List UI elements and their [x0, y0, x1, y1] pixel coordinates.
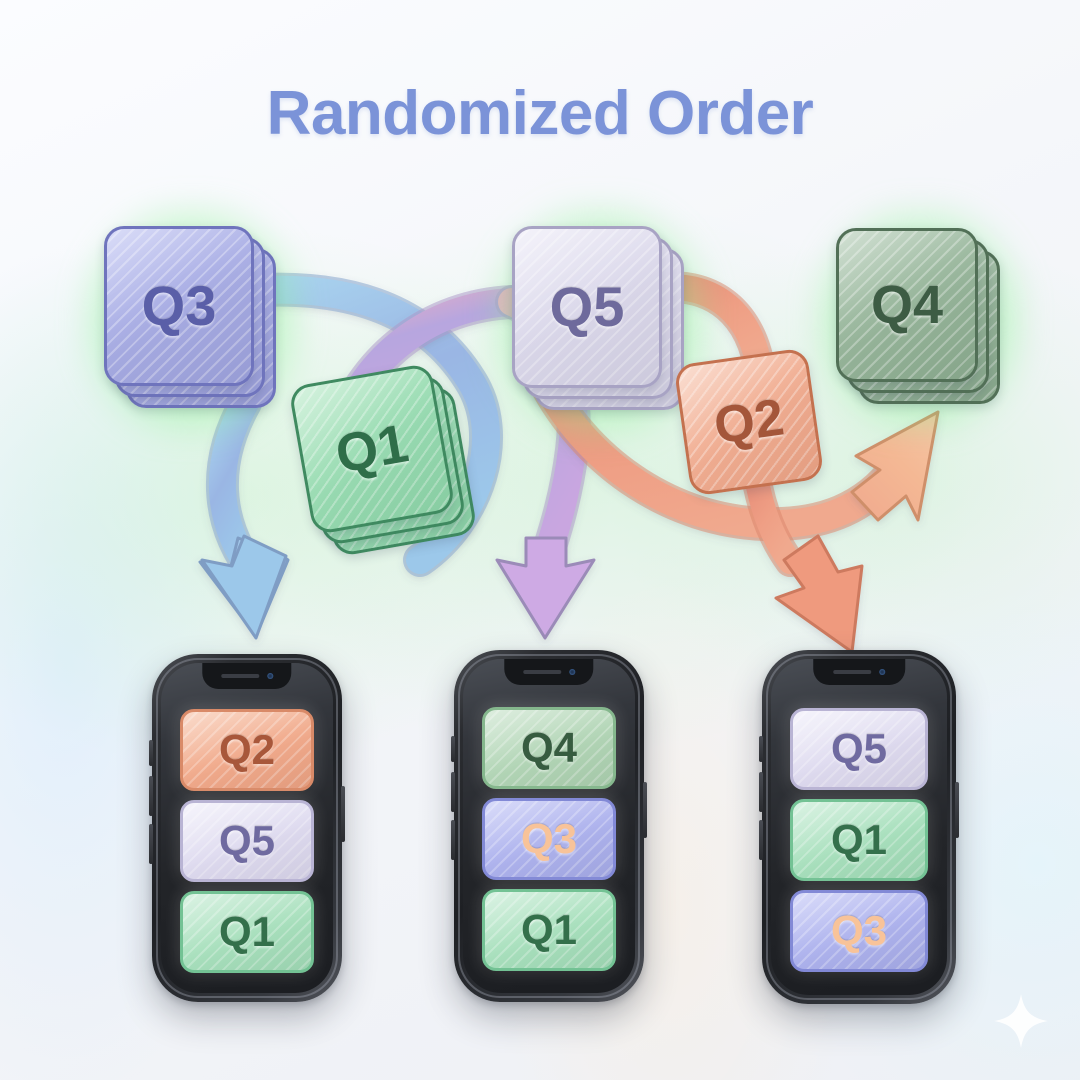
phone-side-button[interactable]: [759, 736, 763, 762]
speaker-icon: [523, 670, 561, 674]
randomized-order-diagram: Randomized Order: [0, 0, 1080, 1080]
card-front[interactable]: Q4: [836, 228, 978, 382]
card-label: Q2: [711, 391, 787, 452]
tile-label: Q3: [831, 910, 887, 952]
card-label: Q3: [142, 278, 217, 334]
card-stack-q4[interactable]: Q4: [836, 228, 1008, 412]
question-tile[interactable]: Q5: [180, 800, 314, 882]
speaker-icon: [221, 674, 259, 678]
phone-power-button[interactable]: [643, 782, 647, 838]
phone-2[interactable]: Q4Q3Q1: [454, 650, 644, 1002]
question-tile[interactable]: Q2: [180, 709, 314, 791]
question-tile[interactable]: Q3: [482, 798, 616, 880]
arrow-peach-q2-up-to-q4: [852, 412, 938, 520]
phone-3[interactable]: Q5Q1Q3: [762, 650, 956, 1004]
phone-power-button[interactable]: [955, 782, 959, 838]
phone-side-button[interactable]: [451, 736, 455, 762]
camera-icon: [267, 673, 273, 679]
phone-notch: [813, 659, 905, 685]
card-label: Q5: [550, 279, 625, 335]
tile-label: Q2: [219, 729, 275, 771]
tile-label: Q1: [831, 819, 887, 861]
tile-label: Q5: [219, 820, 275, 862]
phone-power-button[interactable]: [341, 786, 345, 842]
card-label: Q1: [332, 416, 412, 482]
card-front[interactable]: Q5: [512, 226, 662, 388]
speaker-icon: [833, 670, 871, 674]
tile-label: Q1: [219, 911, 275, 953]
phone-side-button[interactable]: [451, 772, 455, 812]
card-stack-q3[interactable]: Q3: [104, 226, 284, 416]
question-tile[interactable]: Q4: [482, 707, 616, 789]
phone-1[interactable]: Q2Q5Q1: [152, 654, 342, 1002]
tile-label: Q1: [521, 909, 577, 951]
phone-screen: Q2Q5Q1: [161, 663, 333, 993]
tile-label: Q4: [521, 727, 577, 769]
phone-side-button[interactable]: [149, 740, 153, 766]
phone-notch: [202, 663, 291, 689]
question-tile[interactable]: Q5: [790, 708, 927, 790]
question-tile[interactable]: Q1: [790, 799, 927, 881]
camera-icon: [569, 669, 575, 675]
question-tile[interactable]: Q1: [180, 891, 314, 973]
card-front[interactable]: Q3: [104, 226, 254, 386]
tile-label: Q5: [831, 728, 887, 770]
phone-screen: Q4Q3Q1: [463, 659, 635, 993]
phone-side-button[interactable]: [759, 820, 763, 860]
phone-side-button[interactable]: [149, 776, 153, 816]
tile-label: Q3: [521, 818, 577, 860]
phone-side-button[interactable]: [759, 772, 763, 812]
card-stack-q1[interactable]: Q1: [300, 374, 474, 554]
card-label: Q4: [871, 278, 943, 332]
phone-screen: Q5Q1Q3: [771, 659, 947, 995]
phone-side-button[interactable]: [451, 820, 455, 860]
camera-icon: [879, 669, 885, 675]
question-tile[interactable]: Q3: [790, 890, 927, 972]
card-front[interactable]: Q2: [673, 347, 824, 496]
card-stack-q2[interactable]: Q2: [682, 356, 846, 518]
phone-notch: [504, 659, 593, 685]
card-stack-q5[interactable]: Q5: [512, 226, 692, 418]
card-front[interactable]: Q1: [288, 363, 456, 536]
phone-side-button[interactable]: [149, 824, 153, 864]
question-tile[interactable]: Q1: [482, 889, 616, 971]
